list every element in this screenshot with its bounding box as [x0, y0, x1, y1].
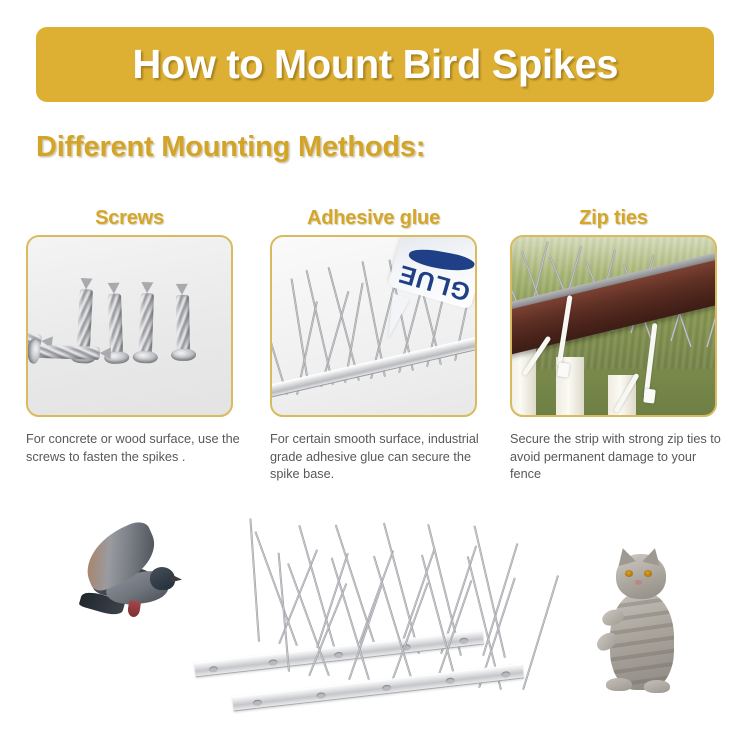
cat-nose — [635, 580, 642, 585]
spike-icon — [254, 531, 298, 646]
zip-tie-head-icon — [557, 362, 570, 378]
pigeon-feet — [127, 600, 141, 618]
cat-hind-foot — [644, 680, 670, 693]
cat-eye-left — [625, 570, 633, 577]
method-heading-screws: Screws — [26, 205, 233, 235]
method-image-screws — [26, 235, 233, 417]
title-banner: How to Mount Bird Spikes — [36, 27, 714, 102]
method-image-adhesive-glue: GLUE — [270, 235, 477, 417]
zip-tie-head-icon — [643, 388, 656, 403]
method-heading-adhesive-glue: Adhesive glue — [270, 205, 477, 235]
method-column-zip-ties: Zip ties — [510, 205, 717, 484]
cat-fur-stripes — [610, 592, 674, 690]
method-column-adhesive-glue: Adhesive glue GLUE For — [270, 205, 477, 484]
spike-icon — [298, 525, 336, 651]
subtitle: Different Mounting Methods: — [36, 131, 425, 164]
cat-image — [592, 548, 710, 698]
page-title: How to Mount Bird Spikes — [132, 41, 618, 88]
spike-icon — [383, 522, 420, 654]
method-caption-screws: For concrete or wood surface, use the sc… — [26, 431, 241, 466]
pigeon-image — [72, 525, 192, 640]
cat-hind-foot — [606, 678, 632, 691]
hero-product-section — [0, 500, 750, 750]
cat-eye-right — [644, 570, 652, 577]
method-heading-zip-ties: Zip ties — [510, 205, 717, 235]
spike-icon — [522, 575, 559, 690]
method-image-zip-ties — [510, 235, 717, 417]
pigeon-beak — [171, 574, 183, 583]
method-column-screws: Screws — [26, 205, 233, 466]
method-caption-zip-ties: Secure the strip with strong zip ties to… — [510, 431, 725, 484]
method-caption-adhesive-glue: For certain smooth surface, industrial g… — [270, 431, 485, 484]
spike-icon — [308, 583, 347, 676]
